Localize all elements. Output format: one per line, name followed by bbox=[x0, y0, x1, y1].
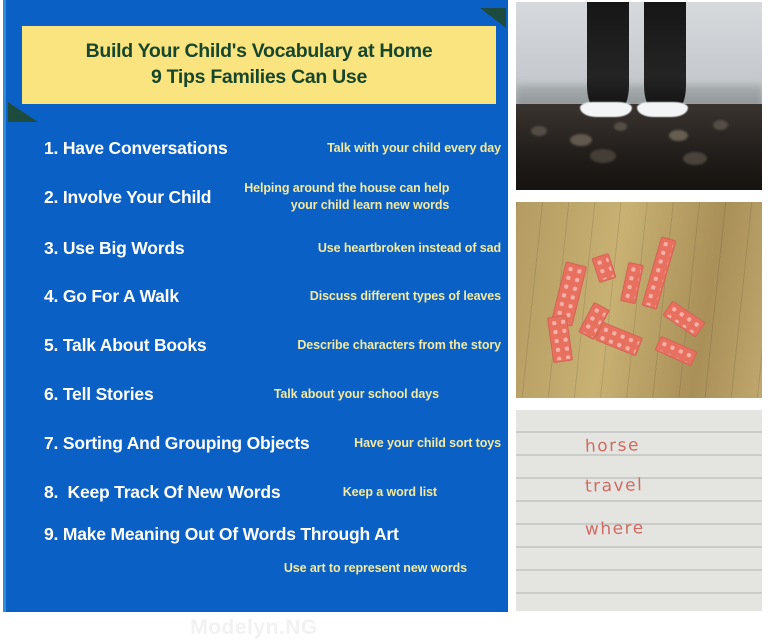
pebble bbox=[531, 126, 547, 136]
tip-title: 1. Have Conversations bbox=[44, 138, 228, 159]
tip-description: Describe characters from the story bbox=[206, 337, 501, 354]
page-title-line-2: 9 Tips Families Can Use bbox=[151, 66, 367, 90]
page-title-line-1: Build Your Child's Vocabulary at Home bbox=[86, 40, 433, 64]
tip-title: 3. Use Big Words bbox=[44, 238, 184, 259]
tip-description: Helping around the house can help your c… bbox=[211, 180, 449, 214]
list-item-tip-7: 7. Sorting And Grouping Objects Have you… bbox=[6, 419, 511, 468]
tip-description: Talk about your school days bbox=[154, 386, 502, 403]
tip-title: 8. Keep Track Of New Words bbox=[44, 482, 280, 503]
list-item-tip-2: 2. Involve Your Child Helping around the… bbox=[6, 170, 511, 224]
left-leg bbox=[587, 2, 629, 109]
left-sneaker bbox=[580, 102, 632, 117]
right-leg bbox=[644, 2, 686, 109]
tip-description: Use art to represent new words bbox=[44, 560, 501, 577]
tips-panel: Build Your Child's Vocabulary at Home 9 … bbox=[3, 0, 508, 612]
handwritten-word: where bbox=[585, 518, 645, 540]
tip-description: Discuss different types of leaves bbox=[179, 288, 501, 305]
title-ribbon: Build Your Child's Vocabulary at Home 9 … bbox=[22, 26, 496, 104]
tip-description: Talk with your child every day bbox=[228, 140, 501, 157]
photo-column: horse travel where bbox=[514, 0, 768, 644]
list-item-tip-1: 1. Have Conversations Talk with your chi… bbox=[6, 126, 511, 170]
gravel-ground bbox=[516, 104, 762, 190]
handwritten-word: travel bbox=[585, 476, 644, 498]
infographic-canvas: Build Your Child's Vocabulary at Home 9 … bbox=[0, 0, 768, 644]
tip-description: Keep a word list bbox=[280, 484, 501, 501]
title-banner: Build Your Child's Vocabulary at Home 9 … bbox=[22, 26, 496, 104]
list-item-tip-4: 4. Go For A Walk Discuss different types… bbox=[6, 272, 511, 321]
right-sneaker bbox=[637, 102, 689, 117]
tip-title: 9. Make Meaning Out Of Words Through Art bbox=[44, 524, 399, 545]
tip-description: Use heartbroken instead of sad bbox=[184, 240, 501, 257]
ribbon-corner-triangle-top-right bbox=[480, 8, 506, 28]
list-item-tip-6: 6. Tell Stories Talk about your school d… bbox=[6, 370, 511, 419]
watermark: Modelyn.NG bbox=[0, 612, 508, 644]
pebble bbox=[570, 134, 592, 146]
tip-title: 5. Talk About Books bbox=[44, 335, 206, 356]
tip-title: 2. Involve Your Child bbox=[44, 187, 211, 208]
handwritten-word: horse bbox=[585, 435, 640, 456]
handwritten-word-list-photo: horse travel where bbox=[514, 408, 764, 613]
tip-title: 6. Tell Stories bbox=[44, 384, 154, 405]
wooden-floor bbox=[516, 202, 762, 398]
list-item-tip-5: 5. Talk About Books Describe characters … bbox=[6, 321, 511, 370]
tip-title: 4. Go For A Walk bbox=[44, 286, 179, 307]
list-item-tip-3: 3. Use Big Words Use heartbroken instead… bbox=[6, 224, 511, 272]
list-item-tip-8: 8. Keep Track Of New Words Keep a word l… bbox=[6, 468, 511, 517]
tip-description: Have your child sort toys bbox=[309, 435, 501, 452]
tip-title: 7. Sorting And Grouping Objects bbox=[44, 433, 309, 454]
list-item-tip-9: 9. Make Meaning Out Of Words Through Art bbox=[6, 517, 511, 551]
pebble bbox=[669, 130, 688, 141]
person-standing-on-gravel-photo bbox=[514, 0, 764, 192]
pebble bbox=[590, 149, 616, 163]
tips-list: 1. Have Conversations Talk with your chi… bbox=[6, 126, 511, 585]
red-lego-bricks-photo bbox=[514, 200, 764, 400]
list-item-tip-9-description: Use art to represent new words bbox=[6, 551, 511, 585]
ribbon-corner-triangle-bottom-left bbox=[8, 102, 38, 122]
